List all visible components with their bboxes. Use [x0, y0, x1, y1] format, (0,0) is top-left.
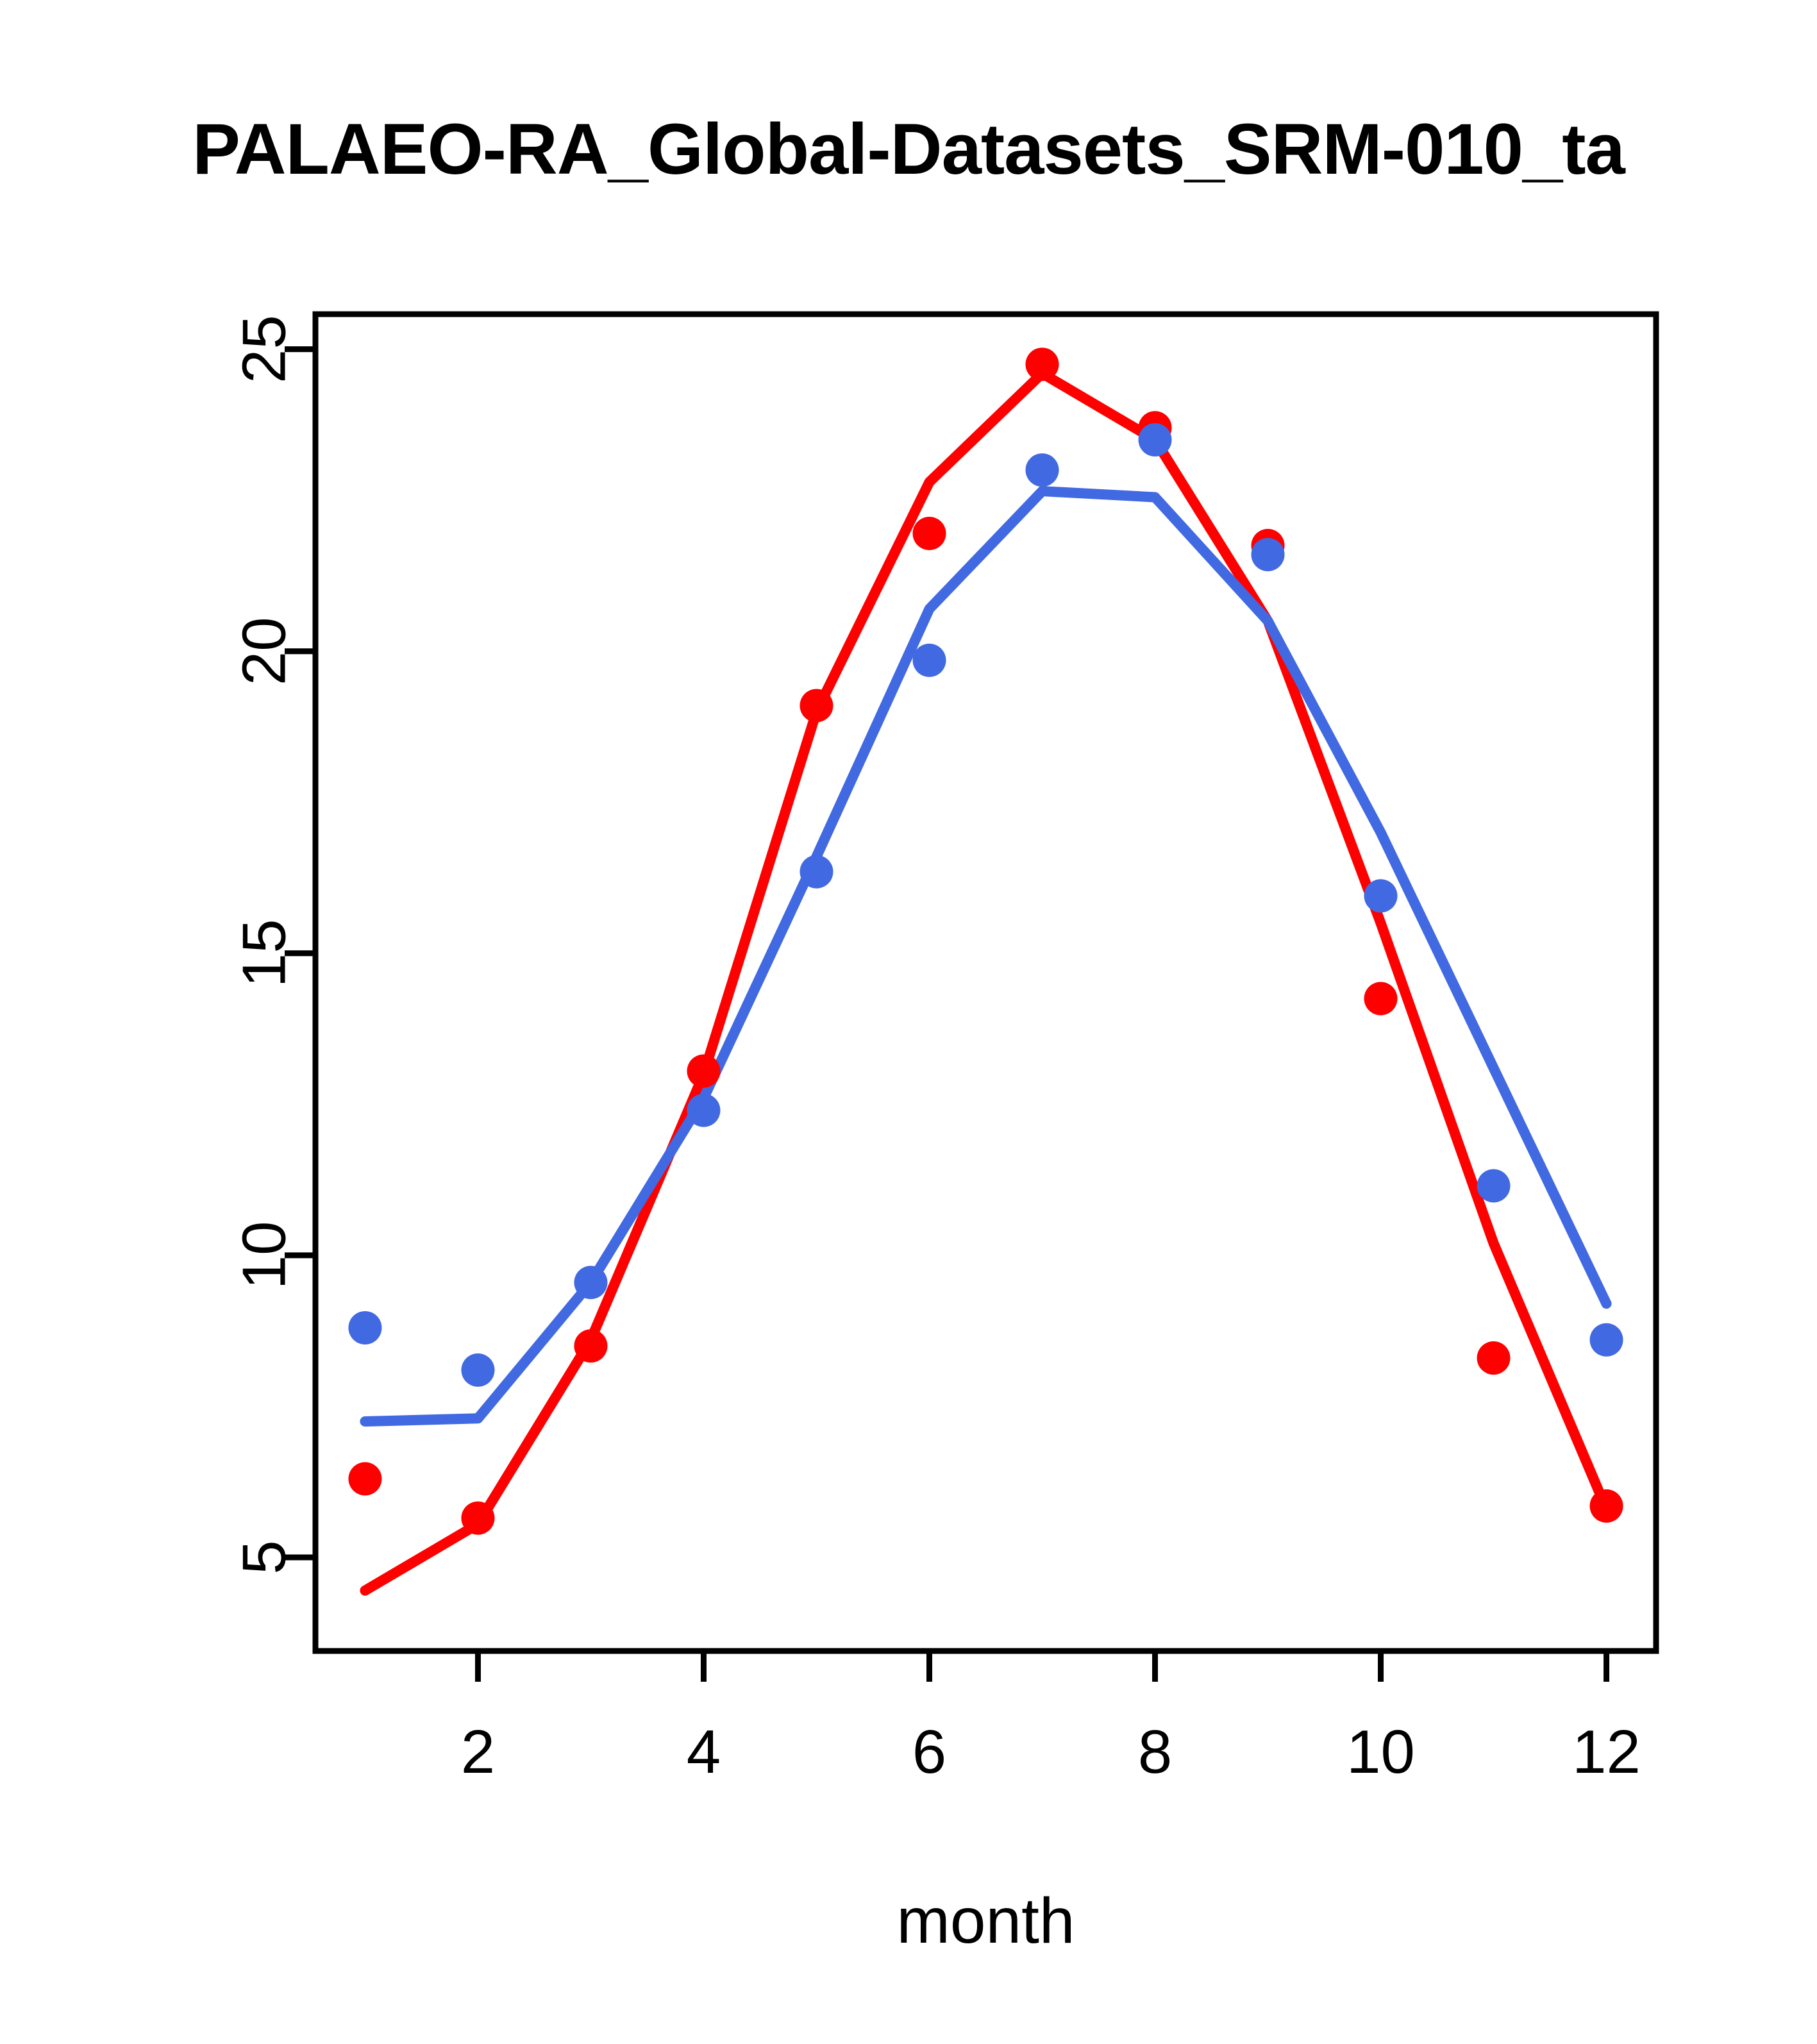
y-axis-tick-label: 10 — [230, 1221, 299, 1289]
x-axis-tick-label: 10 — [1346, 1718, 1415, 1786]
data-point-red-points — [1590, 1489, 1623, 1523]
x-axis-tick-label: 8 — [1138, 1718, 1172, 1786]
data-point-blue-points — [1477, 1169, 1511, 1203]
x-axis-tick-label: 6 — [912, 1718, 946, 1786]
chart-plot-area: PALAEO-RA_Global-Datasets_SRM-010_ta 510… — [0, 0, 1817, 2044]
data-point-red-points — [1364, 982, 1398, 1015]
data-point-red-points — [800, 689, 833, 723]
data-point-red-points — [348, 1462, 381, 1495]
data-point-blue-points — [1590, 1323, 1623, 1357]
y-axis-tick-label: 25 — [230, 315, 299, 383]
data-point-red-points — [687, 1055, 720, 1088]
data-point-blue-points — [348, 1311, 381, 1345]
data-point-blue-points — [800, 855, 833, 889]
data-point-blue-points — [912, 644, 946, 677]
data-point-blue-points — [1026, 453, 1059, 487]
y-axis-tick-label: 5 — [230, 1540, 299, 1574]
data-point-red-points — [574, 1329, 607, 1362]
data-point-blue-points — [1139, 423, 1172, 457]
data-point-blue-points — [461, 1353, 494, 1387]
y-axis-tick-label: 20 — [230, 617, 299, 685]
x-axis-tick-label: 2 — [461, 1718, 495, 1786]
data-point-red-points — [912, 517, 946, 550]
x-axis-tick-label: 4 — [687, 1718, 721, 1786]
data-point-red-points — [1026, 348, 1059, 381]
series-line-blue-line — [365, 491, 1606, 1421]
data-point-blue-points — [574, 1266, 607, 1299]
x-axis-label: month — [897, 1885, 1075, 1957]
data-point-blue-points — [1364, 879, 1398, 912]
data-point-red-points — [1477, 1341, 1511, 1375]
data-point-red-points — [461, 1502, 494, 1535]
y-axis-tick-label: 15 — [230, 919, 299, 987]
data-point-blue-points — [687, 1094, 720, 1127]
x-axis-tick-label: 12 — [1572, 1718, 1641, 1786]
data-point-blue-points — [1252, 538, 1285, 571]
chart-canvas: 51015202524681012month — [0, 0, 1817, 2044]
